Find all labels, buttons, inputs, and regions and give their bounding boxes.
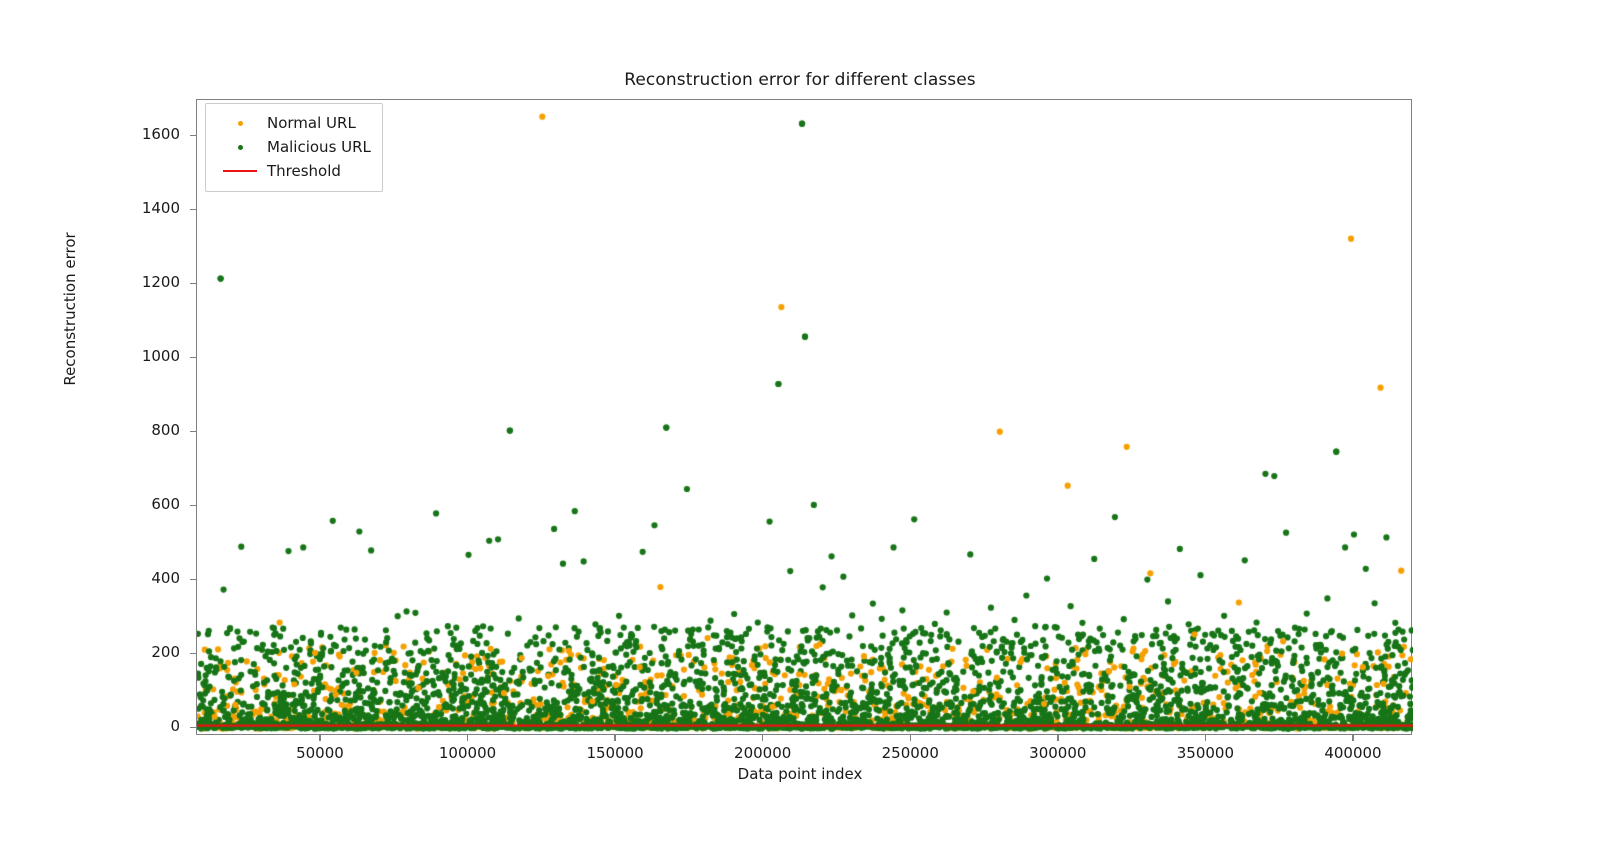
legend-label: Malicious URL xyxy=(263,138,371,156)
x-tick-label: 200000 xyxy=(703,744,823,762)
x-tick-mark xyxy=(614,735,615,741)
plot-area xyxy=(196,99,1412,735)
page-title: Reconstruction error for different class… xyxy=(0,70,1600,90)
y-tick-mark xyxy=(190,431,196,432)
y-tick-label: 200 xyxy=(80,643,180,661)
legend-item: Threshold xyxy=(217,159,371,183)
y-tick-mark xyxy=(190,283,196,284)
x-tick-label: 350000 xyxy=(1145,744,1265,762)
x-tick-mark xyxy=(1057,735,1058,741)
y-tick-mark xyxy=(190,653,196,654)
legend-key xyxy=(217,170,263,172)
y-tick-label: 400 xyxy=(80,569,180,587)
x-tick-label: 400000 xyxy=(1293,744,1413,762)
y-tick-mark xyxy=(190,209,196,210)
x-tick-label: 250000 xyxy=(850,744,970,762)
x-tick-label: 100000 xyxy=(408,744,528,762)
scatter-plot-figure: Reconstruction error for different class… xyxy=(0,0,1600,843)
legend-key xyxy=(217,145,263,150)
legend-item: Normal URL xyxy=(217,111,371,135)
scatter-canvas xyxy=(197,100,1413,736)
x-tick-mark xyxy=(1205,735,1206,741)
legend-dot-swatch xyxy=(238,121,243,126)
chart-legend: Normal URLMalicious URLThreshold xyxy=(205,103,383,192)
y-tick-label: 800 xyxy=(80,421,180,439)
legend-label: Normal URL xyxy=(263,114,356,132)
x-tick-label: 300000 xyxy=(998,744,1118,762)
x-tick-mark xyxy=(319,735,320,741)
y-axis-label: Reconstruction error xyxy=(61,179,79,439)
y-tick-label: 1600 xyxy=(80,125,180,143)
y-tick-mark xyxy=(190,357,196,358)
x-tick-mark xyxy=(762,735,763,741)
y-tick-label: 1000 xyxy=(80,347,180,365)
y-tick-mark xyxy=(190,579,196,580)
legend-item: Malicious URL xyxy=(217,135,371,159)
y-tick-label: 1200 xyxy=(80,273,180,291)
x-axis-label: Data point index xyxy=(0,765,1600,783)
legend-line-swatch xyxy=(223,170,257,172)
x-tick-mark xyxy=(467,735,468,741)
x-tick-mark xyxy=(910,735,911,741)
x-tick-label: 150000 xyxy=(555,744,675,762)
y-tick-label: 600 xyxy=(80,495,180,513)
y-tick-label: 1400 xyxy=(80,199,180,217)
legend-label: Threshold xyxy=(263,162,341,180)
y-tick-mark xyxy=(190,135,196,136)
x-tick-mark xyxy=(1352,735,1353,741)
y-tick-label: 0 xyxy=(80,717,180,735)
x-tick-label: 50000 xyxy=(260,744,380,762)
legend-dot-swatch xyxy=(238,145,243,150)
y-tick-mark xyxy=(190,727,196,728)
y-tick-mark xyxy=(190,505,196,506)
legend-key xyxy=(217,121,263,126)
